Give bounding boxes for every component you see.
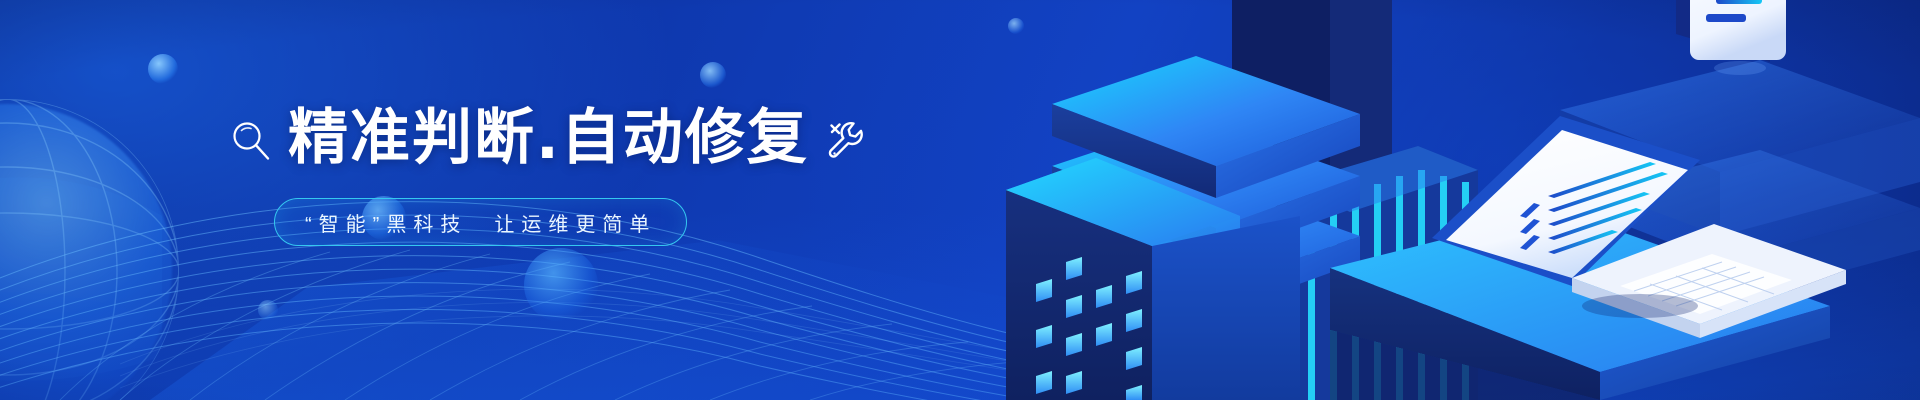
subtitle-badge: “智能”黑科技 让运维更简单 — [274, 198, 687, 246]
banner-root: 精准判断.自动修复 “智能”黑科技 让运维更简单 — [0, 0, 1920, 400]
bokeh-circle — [524, 248, 598, 322]
bokeh-circle — [700, 62, 726, 88]
copy-block: 精准判断.自动修复 “智能”黑科技 让运维更简单 — [228, 96, 888, 246]
bokeh-circle — [148, 54, 178, 84]
bokeh-circle — [258, 300, 278, 320]
wrench-icon — [823, 116, 871, 164]
isometric-illustration — [1000, 0, 1920, 400]
magnifier-icon — [228, 118, 274, 164]
page-title: 精准判断.自动修复 — [288, 108, 809, 168]
headline-row: 精准判断.自动修复 — [228, 96, 888, 180]
